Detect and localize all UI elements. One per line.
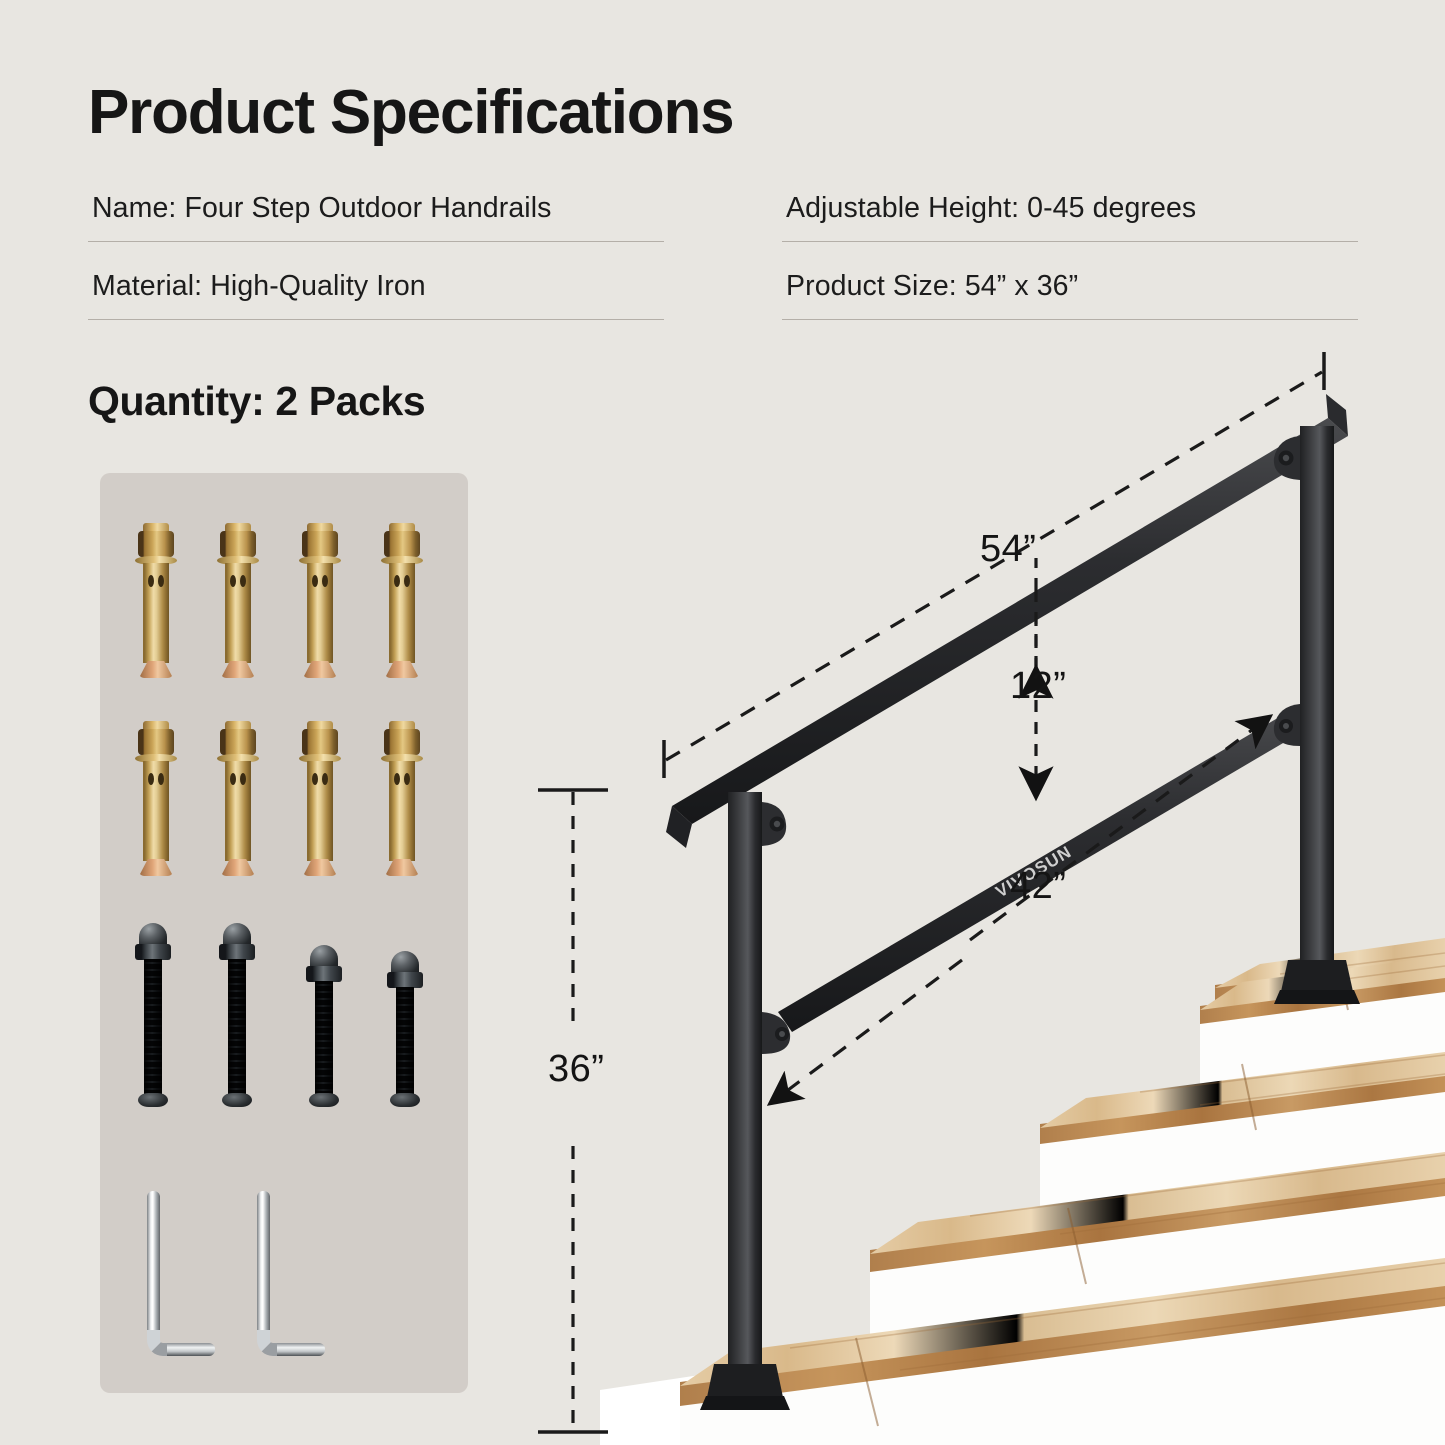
dimension-label-36: 36” xyxy=(548,1048,604,1091)
spec-material-text: Material: High-Quality Iron xyxy=(92,270,660,303)
spec-column-left: Name: Four Step Outdoor Handrails Materi… xyxy=(88,186,664,320)
quantity-heading: Quantity: 2 Packs xyxy=(88,378,425,425)
spec-row-name: Name: Four Step Outdoor Handrails xyxy=(88,186,664,242)
expansion-anchor-bolt xyxy=(300,721,340,876)
expansion-anchor-bolt xyxy=(218,523,258,678)
allen-wrench xyxy=(147,1191,237,1356)
expansion-anchor-bolt xyxy=(382,523,422,678)
specifications-grid: Name: Four Step Outdoor Handrails Materi… xyxy=(88,186,1358,320)
expansion-anchor-bolt xyxy=(136,721,176,876)
left-post xyxy=(700,792,790,1410)
spec-adjustable-height-text: Adjustable Height: 0-45 degrees xyxy=(786,192,1354,225)
spec-row-adjustable-height: Adjustable Height: 0-45 degrees xyxy=(782,186,1358,242)
expansion-anchor-bolt xyxy=(382,721,422,876)
allen-wrench xyxy=(257,1191,347,1356)
spec-name-text: Name: Four Step Outdoor Handrails xyxy=(92,192,660,225)
dim-36 xyxy=(538,790,608,1432)
page-title: Product Specifications xyxy=(88,82,733,144)
expansion-anchor-bolt xyxy=(136,523,176,678)
product-specification-page: Product Specifications Name: Four Step O… xyxy=(0,0,1445,1445)
anchor-bolt-row-2 xyxy=(100,721,468,881)
dome-bolt-row xyxy=(100,923,468,1123)
handrail-diagram: VIVOSUN xyxy=(500,340,1445,1445)
expansion-anchor-bolt xyxy=(218,721,258,876)
spec-product-size-text: Product Size: 54” x 36” xyxy=(786,270,1354,303)
dimension-label-54: 54” xyxy=(980,528,1036,571)
parts-panel xyxy=(100,473,468,1393)
spec-row-product-size: Product Size: 54” x 36” xyxy=(782,264,1358,320)
spec-row-material: Material: High-Quality Iron xyxy=(88,264,664,320)
expansion-anchor-bolt xyxy=(300,523,340,678)
dimension-label-42: 42” xyxy=(1010,865,1066,908)
dimension-label-12: 12” xyxy=(1010,665,1066,708)
anchor-bolt-row-1 xyxy=(100,523,468,683)
top-rail xyxy=(666,394,1348,848)
allen-wrench-row xyxy=(100,1191,468,1366)
spec-column-right: Adjustable Height: 0-45 degrees Product … xyxy=(782,186,1358,320)
